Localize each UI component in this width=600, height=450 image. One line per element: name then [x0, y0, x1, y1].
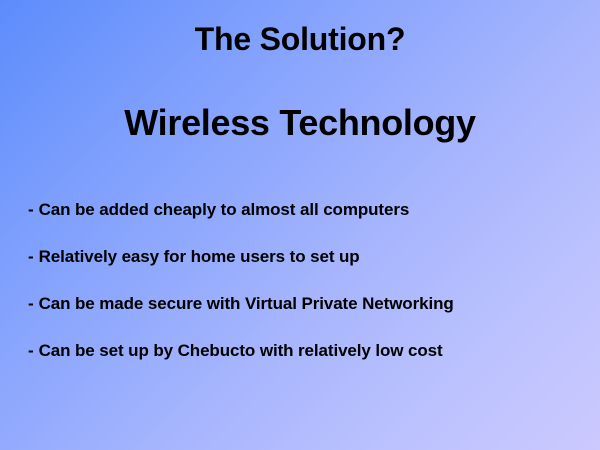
list-item: -Can be set up by Chebucto with relative…	[28, 340, 580, 387]
list-item: -Relatively easy for home users to set u…	[28, 246, 580, 293]
page-title: The Solution?	[0, 22, 600, 57]
list-item-label: Can be set up by Chebucto with relativel…	[39, 341, 443, 360]
list-item: -Can be added cheaply to almost all comp…	[28, 199, 580, 246]
bullet-marker-icon: -	[28, 246, 34, 268]
list-item-label: Can be added cheaply to almost all compu…	[39, 200, 410, 219]
list-item-label: Relatively easy for home users to set up	[39, 247, 360, 266]
bullet-marker-icon: -	[28, 293, 34, 315]
bullet-marker-icon: -	[28, 199, 34, 221]
list-item: -Can be made secure with Virtual Private…	[28, 293, 580, 340]
slide-subtitle: Wireless Technology	[0, 103, 600, 143]
bullet-marker-icon: -	[28, 340, 34, 362]
title-block: The Solution?	[0, 22, 600, 57]
bullet-list: -Can be added cheaply to almost all comp…	[28, 199, 580, 387]
presentation-slide: The Solution? Wireless Technology -Can b…	[0, 0, 600, 450]
list-item-label: Can be made secure with Virtual Private …	[39, 294, 454, 313]
subtitle-block: Wireless Technology	[0, 103, 600, 143]
